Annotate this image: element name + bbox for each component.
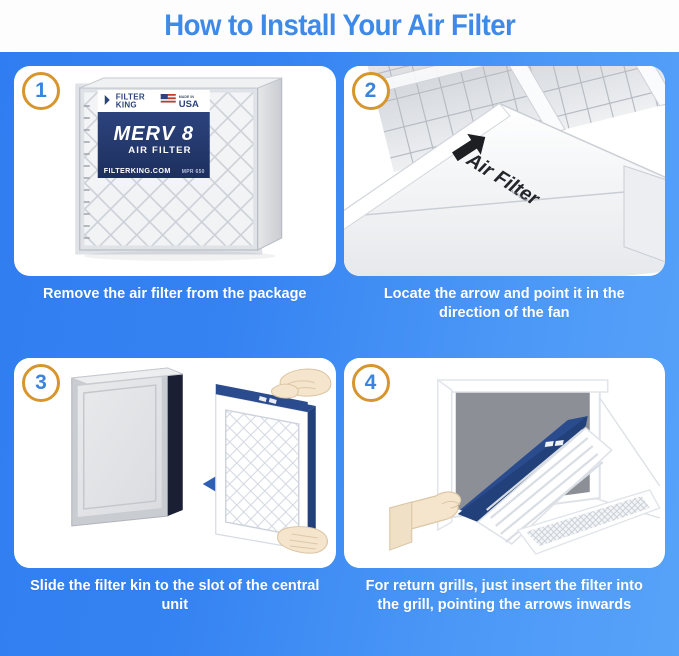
infographic-page: How to Install Your Air Filter 1	[0, 0, 679, 656]
step-4: 4	[344, 358, 666, 648]
step-1: 1	[14, 66, 336, 356]
step-4-card: 4	[344, 358, 666, 568]
svg-text:MPR 650: MPR 650	[182, 169, 205, 175]
svg-text:MERV 8: MERV 8	[114, 123, 194, 145]
page-title: How to Install Your Air Filter	[164, 9, 515, 43]
svg-text:KING: KING	[116, 101, 137, 110]
step-4-number-badge: 4	[352, 364, 390, 402]
svg-text:AIR FILTER: AIR FILTER	[128, 145, 192, 156]
step-2: 2	[344, 66, 666, 356]
header-band: How to Install Your Air Filter	[0, 0, 679, 52]
step-2-caption: Locate the arrow and point it in the dir…	[344, 285, 666, 322]
step-2-card: 2	[344, 66, 666, 276]
steps-grid: 1	[0, 52, 679, 656]
svg-text:FILTERKING.COM: FILTERKING.COM	[104, 166, 171, 175]
step-3-card: 3	[14, 358, 336, 568]
step-3-illustration	[14, 358, 336, 568]
step-4-illustration	[344, 358, 666, 568]
step-4-caption: For return grills, just insert the filte…	[344, 577, 666, 614]
step-3: 3	[14, 358, 336, 648]
step-3-number-badge: 3	[22, 364, 60, 402]
step-2-number-badge: 2	[352, 72, 390, 110]
svg-text:USA: USA	[179, 99, 199, 110]
step-1-illustration: FILTER KING MADE IN USA	[14, 66, 336, 276]
step-3-caption: Slide the filter kin to the slot of the …	[14, 577, 336, 614]
step-1-caption: Remove the air filter from the package	[14, 285, 336, 304]
step-1-number-badge: 1	[22, 72, 60, 110]
step-2-illustration: Air Filter AIRFLOW	[344, 66, 666, 276]
step-1-card: 1	[14, 66, 336, 276]
